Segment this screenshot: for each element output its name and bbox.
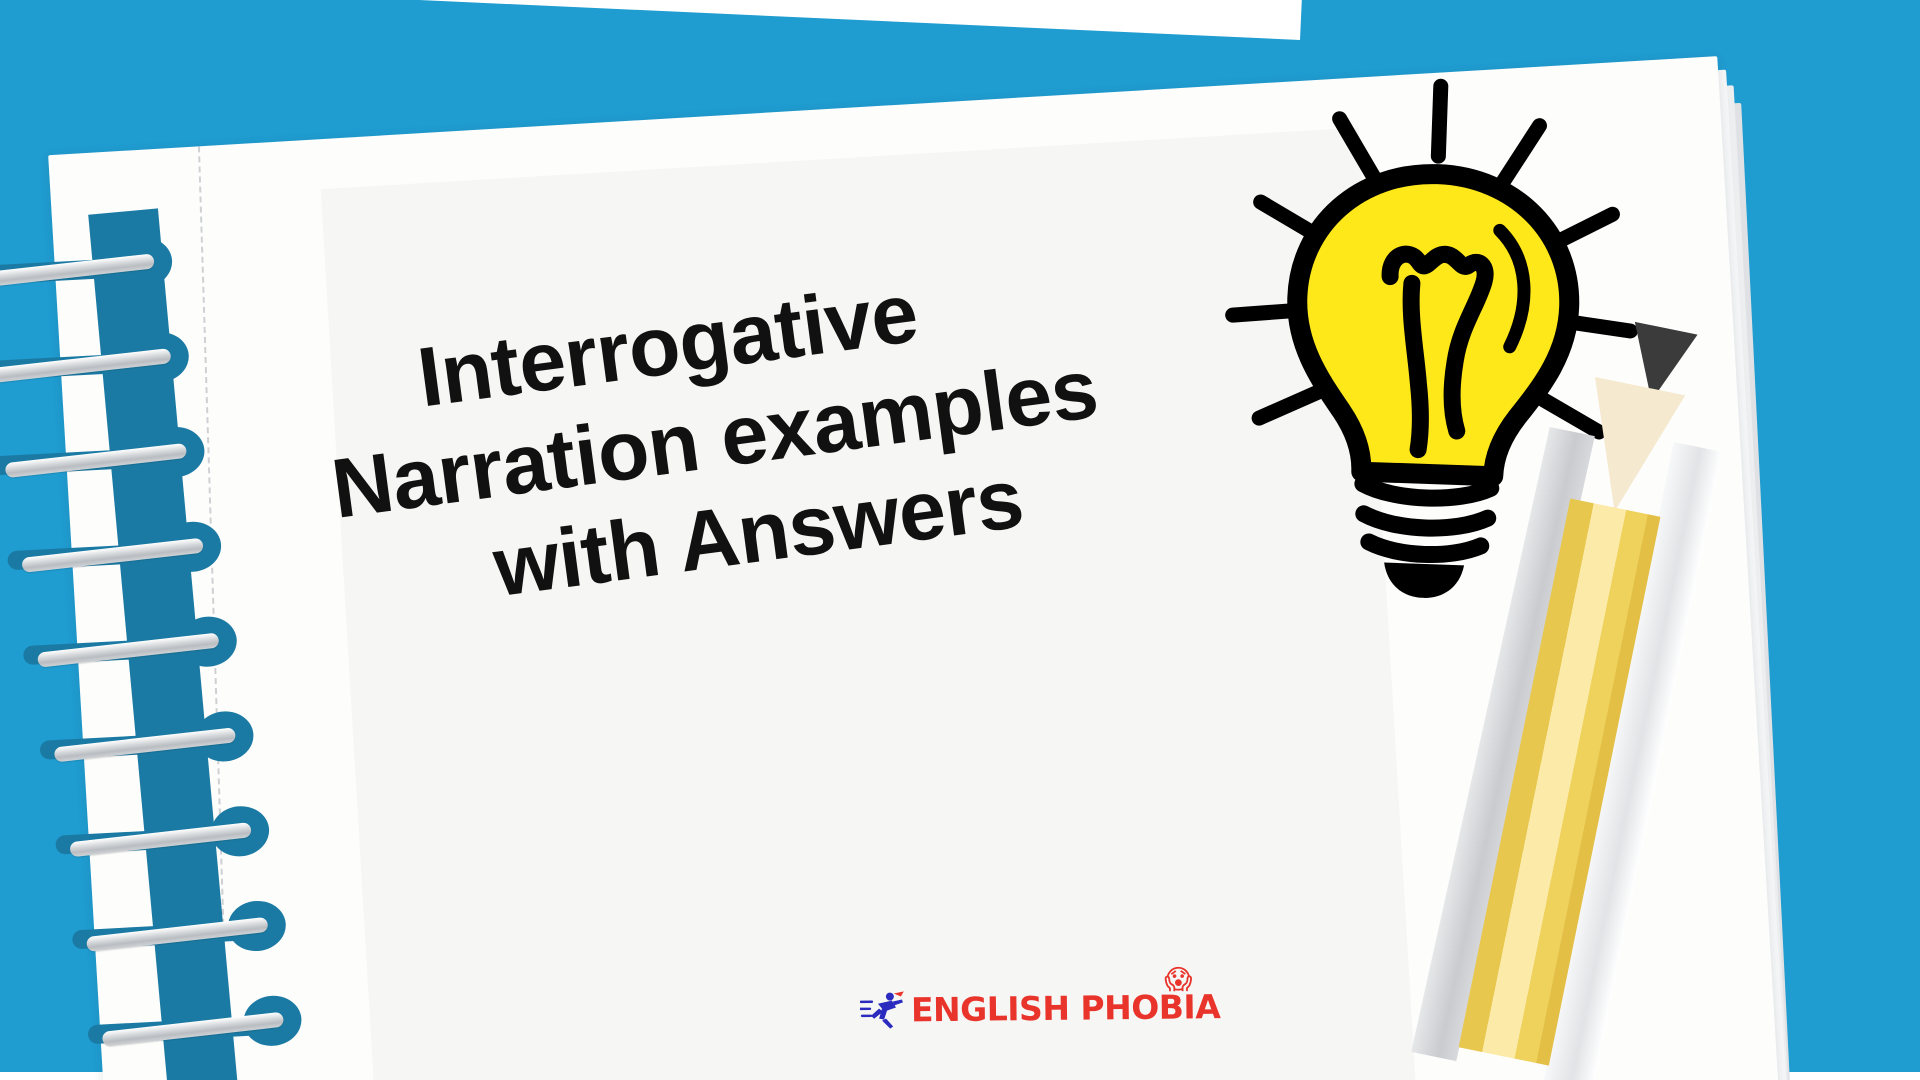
spiral-ring xyxy=(27,637,32,683)
poster-canvas: Interrogative Narration examples with An… xyxy=(0,0,1920,1080)
spiral-ring xyxy=(76,921,81,967)
spiral-ring xyxy=(92,1016,97,1062)
spiral-ring xyxy=(59,826,64,872)
spiral-ring xyxy=(43,732,48,778)
brand-logo[interactable]: ENGLISH PHOBIA 😱 xyxy=(860,986,1221,1030)
running-man-icon xyxy=(860,989,906,1029)
brand-name: ENGLISH PHOBIA 😱 xyxy=(911,990,1221,1026)
fearful-face-emoji: 😱 xyxy=(1164,966,1192,993)
spiral-ring xyxy=(11,542,16,588)
